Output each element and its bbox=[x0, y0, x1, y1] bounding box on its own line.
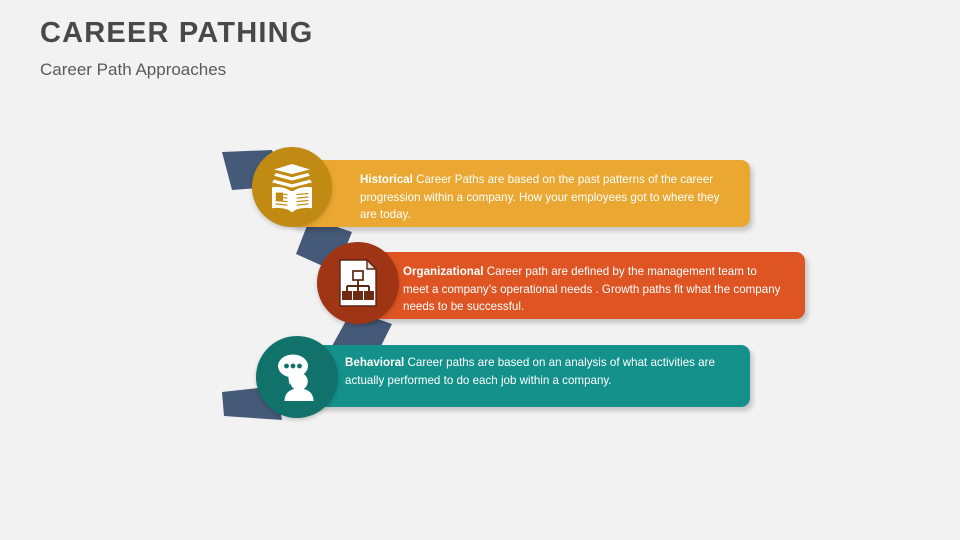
approach-icon-circle-behavioral[interactable] bbox=[256, 336, 338, 418]
approach-icon-circle-organizational[interactable] bbox=[317, 242, 399, 324]
approach-icon-circle-historical[interactable] bbox=[252, 147, 332, 227]
career-path-infographic: Historical Career Paths are based on the… bbox=[0, 0, 960, 540]
person-speech-bubble-icon bbox=[270, 350, 324, 404]
org-chart-document-icon bbox=[331, 256, 385, 310]
approach-lead-historical: Historical bbox=[360, 173, 413, 186]
approach-bar-behavioral[interactable]: Behavioral Career paths are based on an … bbox=[290, 345, 750, 407]
approach-text-organizational: Organizational Career path are defined b… bbox=[403, 263, 783, 316]
open-book-icon bbox=[265, 160, 319, 214]
approach-bar-organizational[interactable]: Organizational Career path are defined b… bbox=[355, 252, 805, 319]
approach-lead-behavioral: Behavioral bbox=[345, 356, 404, 369]
approach-lead-organizational: Organizational bbox=[403, 265, 484, 278]
approach-text-historical: Historical Career Paths are based on the… bbox=[360, 171, 735, 224]
approach-bar-historical[interactable]: Historical Career Paths are based on the… bbox=[290, 160, 750, 227]
approach-text-behavioral: Behavioral Career paths are based on an … bbox=[345, 354, 725, 389]
approach-body-historical: Career Paths are based on the past patte… bbox=[360, 173, 719, 221]
